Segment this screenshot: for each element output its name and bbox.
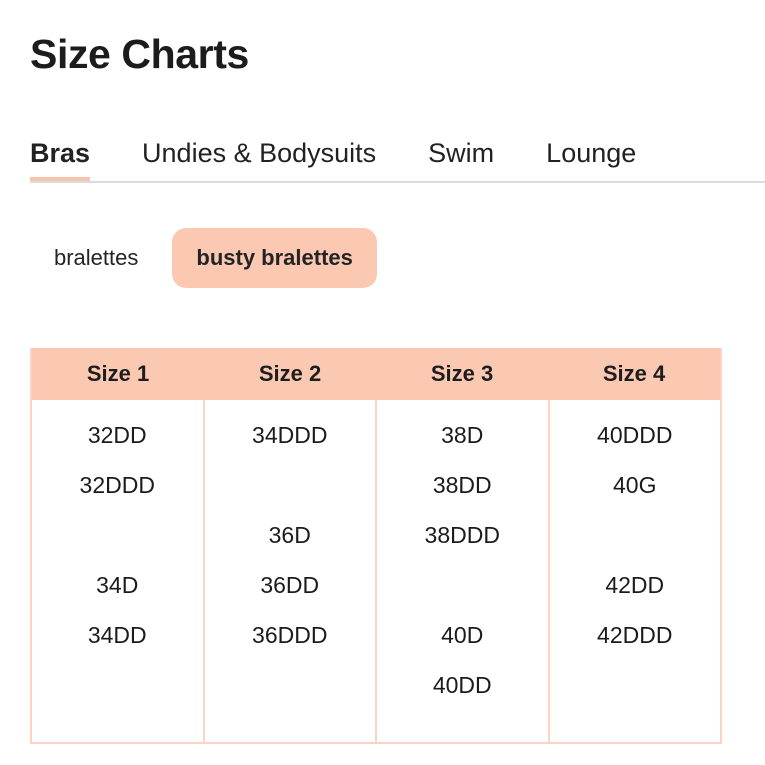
- primary-tab-bar: BrasUndies & BodysuitsSwimLounge: [0, 131, 765, 183]
- size-cell: 40G: [550, 460, 721, 510]
- tab-lounge[interactable]: Lounge: [546, 131, 636, 181]
- column-header-1: Size 1: [32, 348, 204, 400]
- size-cell: 34DDD: [205, 410, 376, 460]
- size-charts-page: Size Charts BrasUndies & BodysuitsSwimLo…: [0, 0, 765, 765]
- size-cell-empty: [32, 660, 203, 710]
- size-chart-table: Size 1Size 2Size 3Size 4 32DD32DDD34D34D…: [30, 348, 722, 744]
- subtab-bralettes[interactable]: bralettes: [30, 228, 162, 288]
- size-cell: 32DDD: [32, 460, 203, 510]
- size-cell: 40DD: [377, 660, 548, 710]
- size-cell: 38D: [377, 410, 548, 460]
- size-cell: 34DD: [32, 610, 203, 660]
- size-cell-empty: [205, 460, 376, 510]
- size-cell-empty: [205, 660, 376, 710]
- size-cell: 42DDD: [550, 610, 721, 660]
- size-cell: 36D: [205, 510, 376, 560]
- tab-undies-bodysuits[interactable]: Undies & Bodysuits: [142, 131, 376, 181]
- size-cell: 40D: [377, 610, 548, 660]
- column-header-2: Size 2: [204, 348, 376, 400]
- subcategory-tab-list: bralettesbusty bralettes: [30, 228, 377, 288]
- size-cell: 38DD: [377, 460, 548, 510]
- size-chart-header-row: Size 1Size 2Size 3Size 4: [32, 348, 720, 400]
- size-cell-empty: [32, 510, 203, 560]
- subtab-busty-bralettes[interactable]: busty bralettes: [172, 228, 377, 288]
- size-cell-empty: [550, 510, 721, 560]
- tab-swim[interactable]: Swim: [428, 131, 494, 181]
- size-column-3: 38D38DD38DDD40D40DD: [377, 400, 550, 742]
- size-chart-body: 32DD32DDD34D34DD34DDD36D36DD36DDD38D38DD…: [32, 400, 720, 742]
- tab-bras[interactable]: Bras: [30, 131, 90, 181]
- size-cell: 34D: [32, 560, 203, 610]
- size-column-4: 40DDD40G42DD42DDD: [550, 400, 721, 742]
- primary-tab-list: BrasUndies & BodysuitsSwimLounge: [30, 131, 636, 181]
- size-cell: 32DD: [32, 410, 203, 460]
- column-header-3: Size 3: [376, 348, 548, 400]
- size-cell: 36DDD: [205, 610, 376, 660]
- size-cell: 38DDD: [377, 510, 548, 560]
- tab-bar-divider: [30, 181, 765, 183]
- column-header-4: Size 4: [548, 348, 720, 400]
- size-cell: 40DDD: [550, 410, 721, 460]
- size-cell: 36DD: [205, 560, 376, 610]
- size-cell-empty: [377, 560, 548, 610]
- size-column-1: 32DD32DDD34D34DD: [32, 400, 205, 742]
- page-title: Size Charts: [30, 32, 249, 77]
- size-column-2: 34DDD36D36DD36DDD: [205, 400, 378, 742]
- size-cell: 42DD: [550, 560, 721, 610]
- size-cell-empty: [550, 660, 721, 710]
